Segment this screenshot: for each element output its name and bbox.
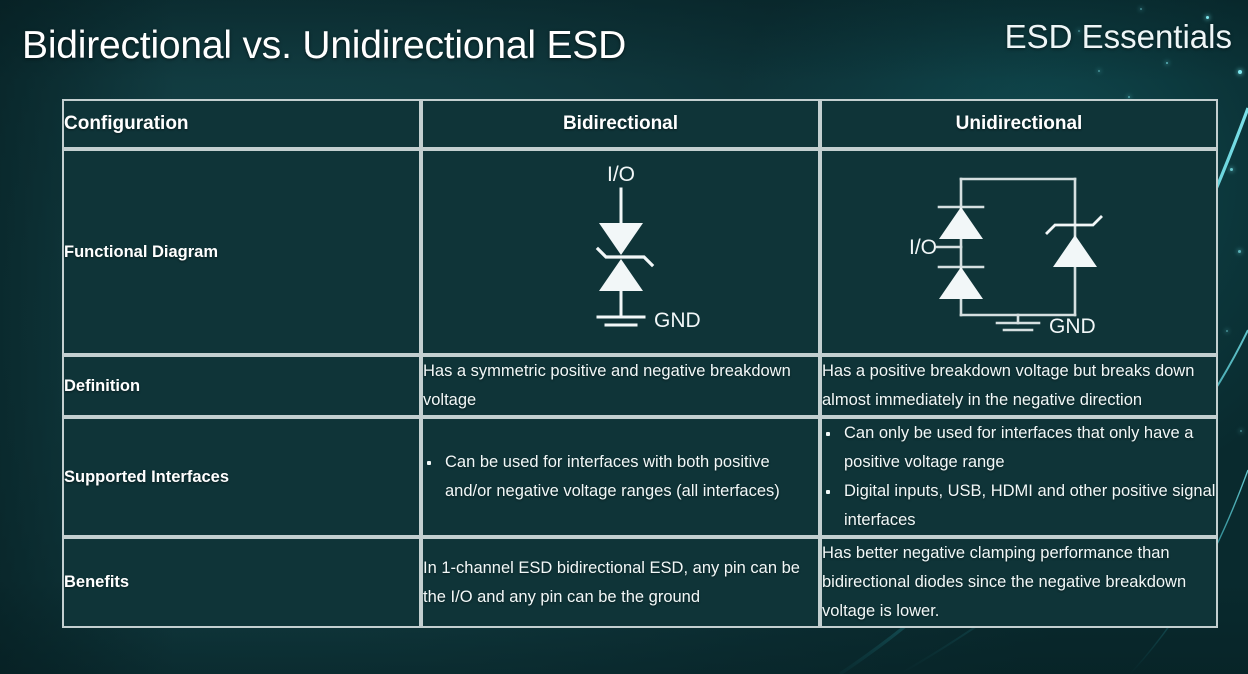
bidirectional-tvs-schematic-icon: I/O [506,157,736,347]
column-header-bidirectional: Bidirectional [421,99,820,149]
page-title: Bidirectional vs. Unidirectional ESD [22,24,626,68]
row-label-definition: Definition [62,355,421,417]
table-row: Supported Interfaces Can be used for int… [62,417,1218,537]
cell-bidirectional-diagram: I/O [421,149,820,355]
cell-benefits-unidirectional: Has better negative clamping performance… [820,537,1218,628]
table-header-row: Configuration Bidirectional Unidirection… [62,99,1218,149]
table-row: Benefits In 1-channel ESD bidirectional … [62,537,1218,628]
bullet-list: Can only be used for interfaces that onl… [822,419,1216,535]
table-body: Functional Diagram I/O [62,149,1218,628]
cell-benefits-bidirectional: In 1-channel ESD bidirectional ESD, any … [421,537,820,628]
cell-supported-interfaces-unidirectional: Can only be used for interfaces that onl… [820,417,1218,537]
cell-definition-bidirectional: Has a symmetric positive and negative br… [421,355,820,417]
list-item: Can be used for interfaces with both pos… [423,448,818,506]
svg-text:I/O: I/O [606,163,634,186]
unidirectional-tvs-schematic-icon: I/O [869,157,1169,347]
svg-text:GND: GND [1049,315,1096,338]
cell-supported-interfaces-bidirectional: Can be used for interfaces with both pos… [421,417,820,537]
column-header-configuration: Configuration [62,99,421,149]
table-row: Definition Has a symmetric positive and … [62,355,1218,417]
column-header-unidirectional: Unidirectional [820,99,1218,149]
bullet-list: Can be used for interfaces with both pos… [423,448,818,506]
row-label-benefits: Benefits [62,537,421,628]
list-item: Can only be used for interfaces that onl… [822,419,1216,477]
list-item: Digital inputs, USB, HDMI and other posi… [822,477,1216,535]
row-label-supported-interfaces: Supported Interfaces [62,417,421,537]
brand-label: ESD Essentials [1005,18,1232,56]
cell-unidirectional-diagram: I/O [820,149,1218,355]
row-label-functional-diagram: Functional Diagram [62,149,421,355]
table-row: Functional Diagram I/O [62,149,1218,355]
svg-text:I/O: I/O [909,236,937,259]
cell-definition-unidirectional: Has a positive breakdown voltage but bre… [820,355,1218,417]
comparison-table: Configuration Bidirectional Unidirection… [62,99,1218,628]
slide-canvas: Bidirectional vs. Unidirectional ESD ESD… [0,0,1248,674]
svg-text:GND: GND [654,309,701,332]
table-header: Configuration Bidirectional Unidirection… [62,99,1218,149]
